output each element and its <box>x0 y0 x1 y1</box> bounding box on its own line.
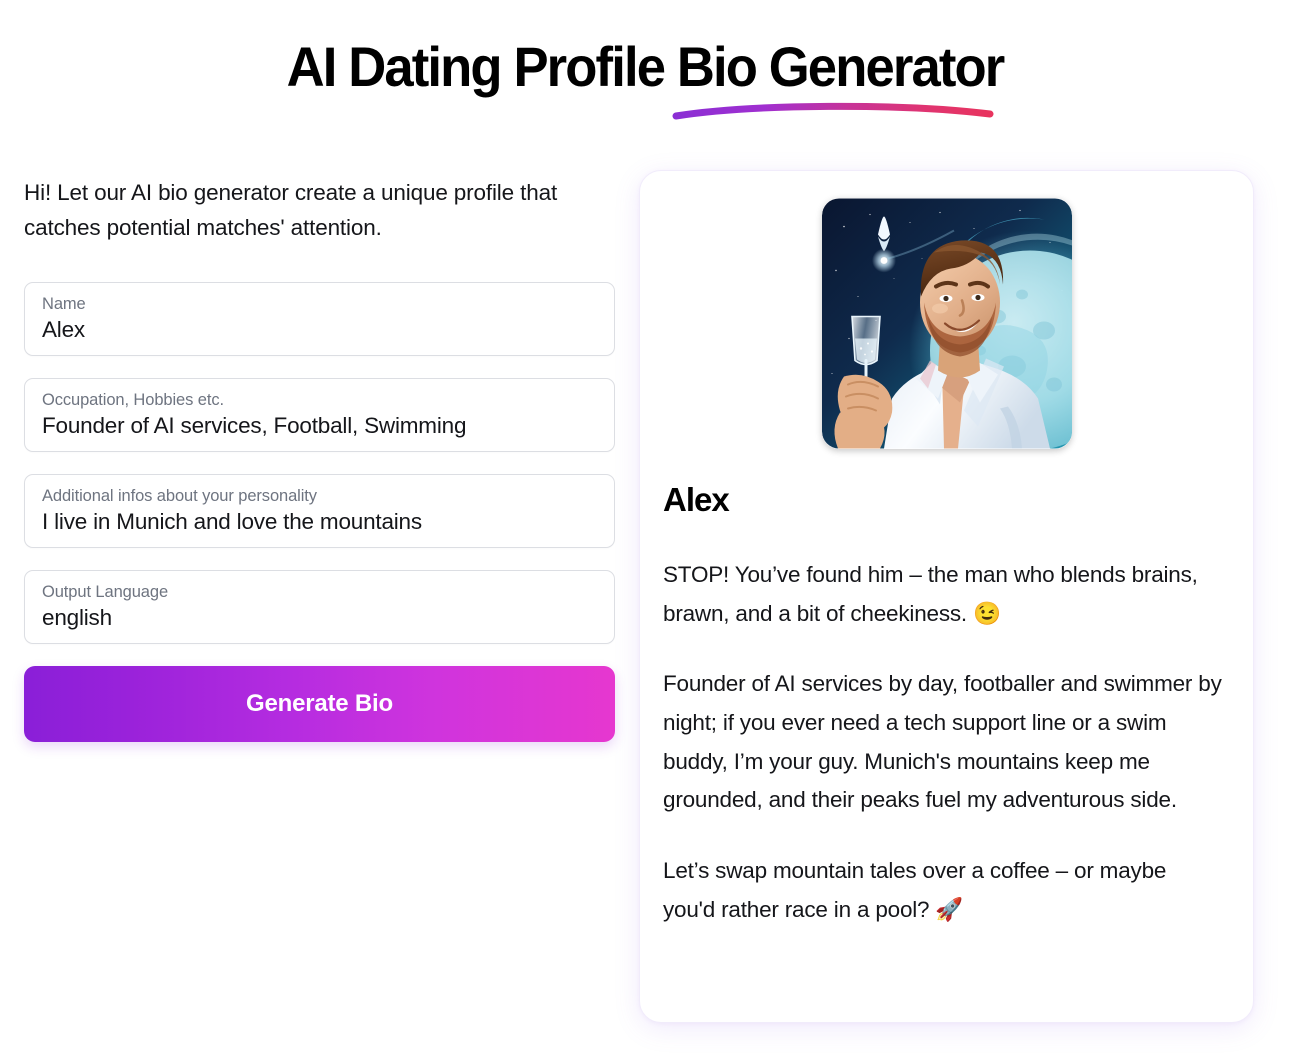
field-name[interactable]: Name Alex <box>24 282 615 356</box>
generator-form: Hi! Let our AI bio generator create a un… <box>24 176 615 742</box>
generate-bio-button[interactable]: Generate Bio <box>24 666 615 742</box>
field-output-language-label: Output Language <box>42 582 597 603</box>
field-personality-value[interactable]: I live in Munich and love the mountains <box>42 507 597 536</box>
field-name-label: Name <box>42 294 597 315</box>
title-underline-swoosh <box>672 96 994 122</box>
field-output-language[interactable]: Output Language english <box>24 570 615 644</box>
field-name-value[interactable]: Alex <box>42 315 597 344</box>
field-output-language-value[interactable]: english <box>42 603 597 632</box>
profile-name: Alex <box>663 481 729 519</box>
field-occupation-value[interactable]: Founder of AI services, Football, Swimmi… <box>42 411 597 440</box>
avatar <box>822 198 1072 449</box>
field-personality-label: Additional infos about your personality <box>42 486 597 507</box>
intro-text: Hi! Let our AI bio generator create a un… <box>24 176 610 246</box>
bio-paragraph-1: STOP! You’ve found him – the man who ble… <box>663 556 1223 633</box>
field-occupation[interactable]: Occupation, Hobbies etc. Founder of AI s… <box>24 378 615 452</box>
bio-paragraph-3: Let’s swap mountain tales over a coffee … <box>663 852 1223 929</box>
avatar-image <box>822 198 1072 449</box>
field-occupation-label: Occupation, Hobbies etc. <box>42 390 597 411</box>
bio-text: STOP! You’ve found him – the man who ble… <box>663 556 1223 930</box>
field-personality[interactable]: Additional infos about your personality … <box>24 474 615 548</box>
page-header: AI Dating Profile Bio Generator <box>0 38 1290 97</box>
bio-paragraph-2: Founder of AI services by day, footballe… <box>663 665 1223 820</box>
app-root: AI Dating Profile Bio Generator Hi! Let … <box>0 0 1290 1060</box>
page-title: AI Dating Profile Bio Generator <box>39 38 1252 97</box>
